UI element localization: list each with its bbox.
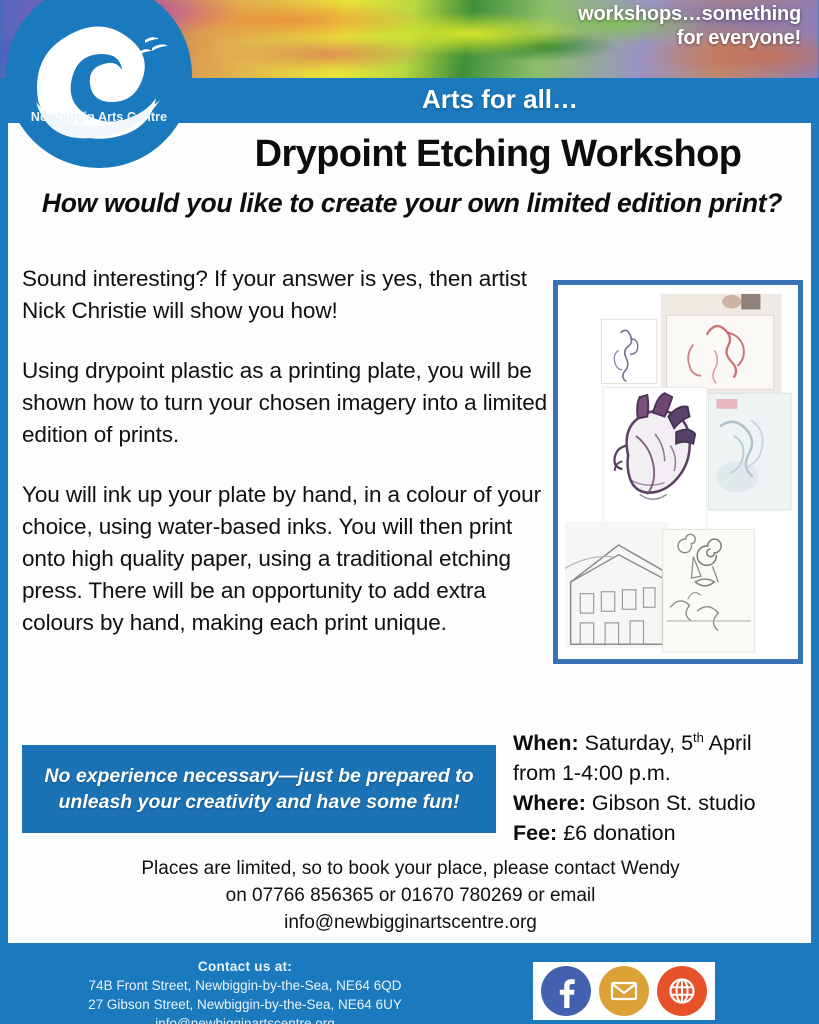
booking-email[interactable]: info@newbigginartscentre.org xyxy=(38,909,783,936)
strapline-text: Arts for all… xyxy=(180,82,819,116)
footer-address-2: 27 Gibson Street, Newbiggin-by-the-Sea, … xyxy=(0,995,490,1014)
detail-when: When: Saturday, 5th April xyxy=(513,723,808,758)
globe-glyph xyxy=(667,976,697,1006)
no-experience-callout: No experience necessary—just be prepared… xyxy=(22,745,496,833)
facebook-icon[interactable] xyxy=(541,966,591,1016)
detail-fee: Fee: £6 donation xyxy=(513,818,808,848)
callout-text: No experience necessary—just be prepared… xyxy=(33,763,485,815)
social-links xyxy=(533,962,715,1020)
detail-where: Where: Gibson St. studio xyxy=(513,788,808,818)
banner-tagline: workshops…something for everyone! xyxy=(471,2,801,50)
banner-tagline-line1: workshops…something xyxy=(471,2,801,26)
poster-root: workshops…something for everyone! Arts f… xyxy=(0,0,819,1024)
content-card: Drypoint Etching Workshop How would you … xyxy=(8,123,811,943)
when-value-tail: April xyxy=(704,731,752,755)
body-paragraph-1: Sound interesting? If your answer is yes… xyxy=(22,263,552,327)
email-icon[interactable] xyxy=(599,966,649,1016)
banner-tagline-line2: for everyone! xyxy=(471,26,801,50)
body-paragraph-2: Using drypoint plastic as a printing pla… xyxy=(22,355,552,451)
logo-caption: Newbiggin Arts Centre xyxy=(6,110,192,124)
footer-address-1: 74B Front Street, Newbiggin-by-the-Sea, … xyxy=(0,976,490,995)
booking-line-2: on 07766 856365 or 01670 780269 or email xyxy=(38,882,783,909)
artwork-collage xyxy=(563,290,793,654)
booking-info: Places are limited, so to book your plac… xyxy=(38,855,783,936)
when-label: When: xyxy=(513,731,579,755)
footer-heading: Contact us at: xyxy=(0,957,490,976)
where-value: Gibson St. studio xyxy=(592,791,756,815)
newbiggin-arts-centre-logo: Newbiggin Arts Centre xyxy=(6,0,192,168)
facebook-glyph xyxy=(549,974,583,1008)
detail-when-line2: from 1-4:00 p.m. xyxy=(513,758,808,788)
page-title: Drypoint Etching Workshop xyxy=(188,133,808,176)
body-copy: Sound interesting? If your answer is yes… xyxy=(22,263,552,639)
footer-contact-block: Contact us at: 74B Front Street, Newbigg… xyxy=(0,957,490,1024)
when-value: Saturday, 5 xyxy=(585,731,693,755)
event-details: When: Saturday, 5th April from 1-4:00 p.… xyxy=(513,723,808,848)
fee-label: Fee: xyxy=(513,821,557,845)
when-ordinal: th xyxy=(693,730,704,745)
footer-email[interactable]: info@newbigginartscentre.org xyxy=(0,1014,490,1024)
artwork-collage-frame xyxy=(553,280,803,664)
wave-icon xyxy=(6,0,192,168)
where-label: Where: xyxy=(513,791,586,815)
website-icon[interactable] xyxy=(657,966,707,1016)
page-subtitle: How would you like to create your own li… xyxy=(22,185,802,221)
fee-value: £6 donation xyxy=(563,821,675,845)
body-paragraph-3: You will ink up your plate by hand, in a… xyxy=(22,479,552,639)
envelope-glyph xyxy=(609,976,639,1006)
collage-artwork-icon xyxy=(563,290,793,654)
booking-line-1: Places are limited, so to book your plac… xyxy=(38,855,783,882)
